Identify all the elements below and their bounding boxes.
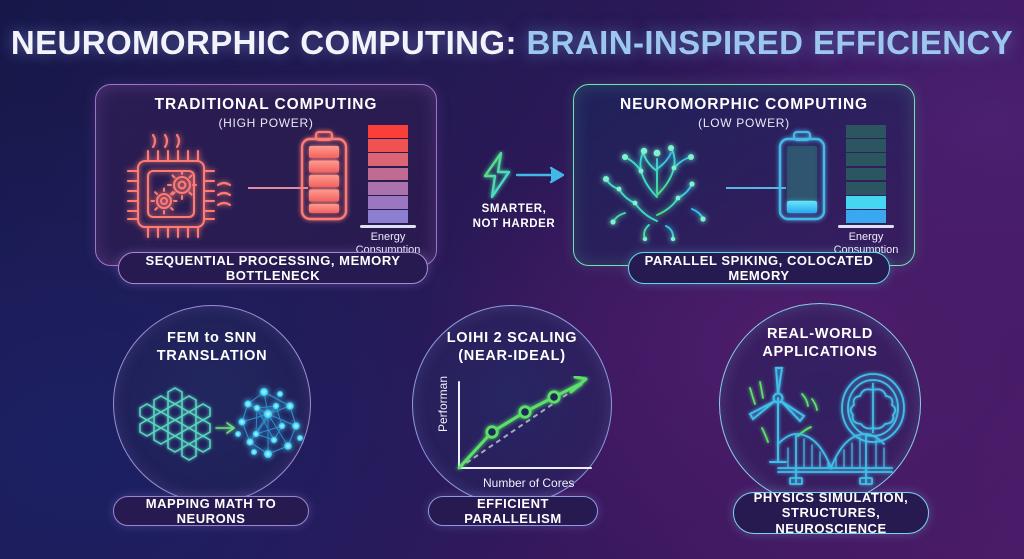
energy-segment bbox=[368, 153, 408, 166]
energy-stack-traditional bbox=[368, 125, 408, 223]
connector-caption-line2: NOT HARDER bbox=[473, 218, 556, 230]
chart-axes bbox=[459, 382, 591, 468]
circle-fem-to-snn: FEM to SNN TRANSLATION bbox=[113, 305, 311, 503]
energy-segment-inactive bbox=[846, 125, 886, 138]
energy-segment-active bbox=[846, 210, 886, 223]
chart-ylabel: Performance bbox=[436, 376, 450, 432]
caption-neuromorphic-text: PARALLEL SPIKING, COLOCATED MEMORY bbox=[629, 253, 889, 284]
energy-label-line1: Energy bbox=[849, 231, 884, 243]
circle-3-title-line2: APPLICATIONS bbox=[762, 344, 877, 360]
battery-low-icon bbox=[770, 127, 834, 227]
chart-xlabel: Number of Cores bbox=[483, 476, 574, 490]
energy-segment bbox=[368, 139, 408, 152]
center-connector: SMARTER, NOT HARDER bbox=[455, 150, 573, 250]
circle-1-title-line1: FEM to SNN bbox=[167, 330, 257, 346]
battery-full-icon bbox=[292, 127, 356, 227]
energy-segment bbox=[368, 168, 408, 181]
energy-segment bbox=[368, 125, 408, 138]
fem-to-snn-illustration bbox=[124, 378, 304, 482]
circle-real-world-applications: REAL-WORLD APPLICATIONS bbox=[719, 303, 921, 505]
caption-applications-line2: STRUCTURES, NEUROSCIENCE bbox=[775, 505, 886, 535]
line-chart-icon: Performance Number of Cores bbox=[425, 376, 601, 494]
circle-1-title-line2: TRANSLATION bbox=[157, 348, 268, 364]
energy-segment bbox=[368, 182, 408, 195]
connector-caption: SMARTER, NOT HARDER bbox=[455, 202, 573, 232]
energy-segment-inactive bbox=[846, 168, 886, 181]
lightning-bolt-icon bbox=[477, 150, 517, 200]
caption-efficient-parallelism: EFFICIENT PARALLELISM bbox=[428, 496, 598, 526]
energy-segment bbox=[368, 210, 408, 223]
brain-scan-icon bbox=[842, 374, 904, 442]
connector-caption-line1: SMARTER, bbox=[482, 203, 547, 215]
chart-arrow-head bbox=[571, 377, 586, 392]
arrow-right-icon bbox=[216, 423, 234, 433]
circle-2-title: LOIHI 2 SCALING (NEAR-IDEAL) bbox=[413, 330, 611, 365]
chart-markers bbox=[487, 392, 559, 437]
circle-loihi-scaling: LOIHI 2 SCALING (NEAR-IDEAL) bbox=[412, 305, 612, 505]
energy-stack-neuromorphic bbox=[846, 125, 886, 223]
circle-3-title: REAL-WORLD APPLICATIONS bbox=[720, 326, 920, 361]
panel-traditional-computing: TRADITIONAL COMPUTING (HIGH POWER) bbox=[95, 84, 437, 266]
circle-3-title-line1: REAL-WORLD bbox=[767, 326, 873, 342]
energy-label-line1: Energy bbox=[371, 231, 406, 243]
caption-traditional-text: SEQUENTIAL PROCESSING, MEMORY BOTTLENECK bbox=[119, 253, 427, 284]
circle-2-title-line2: (NEAR-IDEAL) bbox=[458, 348, 565, 364]
page-title-highlight: BRAIN-INSPIRED EFFICIENCY bbox=[526, 24, 1013, 61]
applications-illustration bbox=[732, 366, 910, 488]
caption-applications-line1: PHYSICS SIMULATION, bbox=[754, 490, 909, 505]
neural-network-graph-icon bbox=[235, 388, 303, 458]
energy-stack-baseline bbox=[360, 225, 416, 228]
circle-1-title: FEM to SNN TRANSLATION bbox=[114, 330, 310, 365]
energy-segment-active bbox=[846, 196, 886, 209]
circle-2-title-line1: LOIHI 2 SCALING bbox=[447, 330, 578, 346]
panel-right-title: NEUROMORPHIC COMPUTING bbox=[574, 96, 914, 114]
page-title-main: NEUROMORPHIC COMPUTING: bbox=[11, 24, 517, 61]
caption-fem-to-snn-text: MAPPING MATH TO NEURONS bbox=[114, 496, 308, 527]
page-title: NEUROMORPHIC COMPUTING: BRAIN-INSPIRED E… bbox=[0, 24, 1024, 62]
hexagonal-mesh-icon bbox=[140, 388, 210, 460]
energy-segment-inactive bbox=[846, 182, 886, 195]
panel-neuromorphic-computing: NEUROMORPHIC COMPUTING (LOW POWER) bbox=[573, 84, 915, 266]
chart-series-ideal bbox=[459, 382, 585, 468]
cpu-gears-heat-icon bbox=[112, 127, 252, 247]
caption-fem-to-snn: MAPPING MATH TO NEURONS bbox=[113, 496, 309, 526]
caption-traditional: SEQUENTIAL PROCESSING, MEMORY BOTTLENECK bbox=[118, 252, 428, 284]
energy-segment-inactive bbox=[846, 153, 886, 166]
energy-segment-inactive bbox=[846, 139, 886, 152]
caption-efficient-parallelism-text: EFFICIENT PARALLELISM bbox=[429, 496, 597, 527]
energy-stack-baseline bbox=[838, 225, 894, 228]
energy-segment bbox=[368, 196, 408, 209]
infographic-canvas: NEUROMORPHIC COMPUTING: BRAIN-INSPIRED E… bbox=[0, 0, 1024, 559]
caption-applications: PHYSICS SIMULATION, STRUCTURES, NEUROSCI… bbox=[733, 492, 929, 534]
neural-brain-tree-icon bbox=[592, 125, 722, 247]
arrow-right-icon bbox=[515, 164, 573, 186]
panel-left-title: TRADITIONAL COMPUTING bbox=[96, 96, 436, 114]
caption-neuromorphic: PARALLEL SPIKING, COLOCATED MEMORY bbox=[628, 252, 890, 284]
